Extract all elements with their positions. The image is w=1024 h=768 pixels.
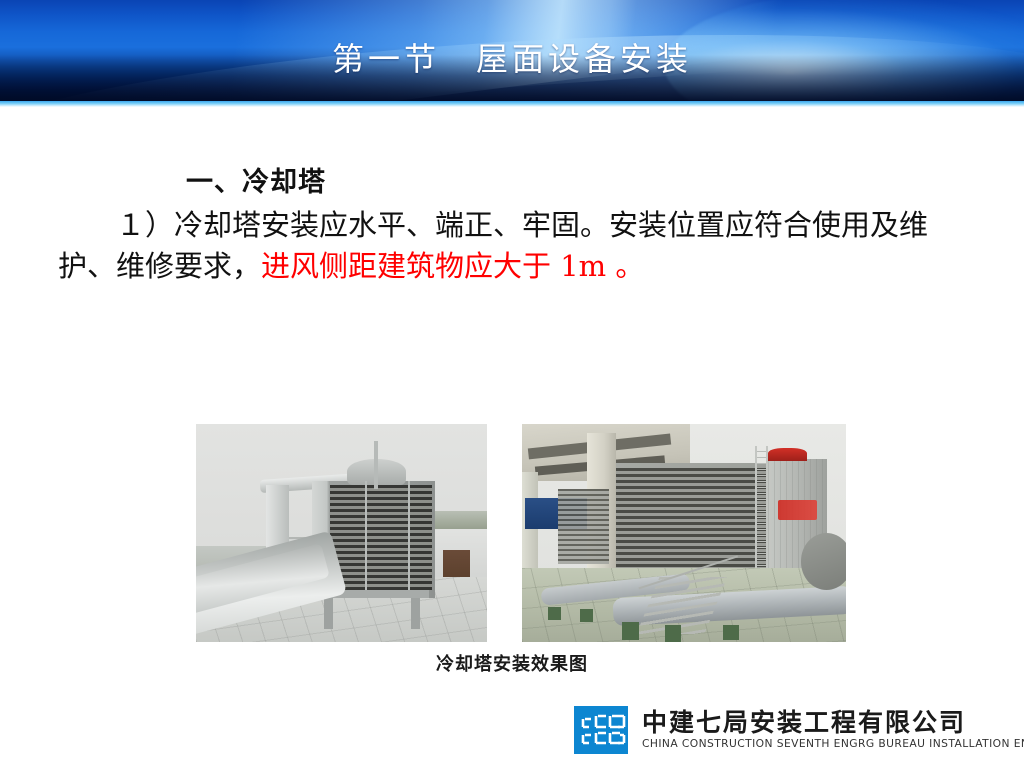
photo-red-brand-mark bbox=[778, 500, 817, 520]
cscec-logo-icon bbox=[574, 706, 628, 754]
photo-pipe-support-c bbox=[723, 625, 739, 640]
company-name-cn: 中建七局安装工程有限公司 bbox=[642, 710, 1024, 736]
photo-pipe-support-a bbox=[622, 622, 638, 639]
banner-accent-stripe bbox=[0, 101, 1024, 107]
photo-satellite-dish bbox=[801, 533, 846, 590]
company-name-block: 中建七局安装工程有限公司 CHINA CONSTRUCTION SEVENTH … bbox=[642, 710, 1024, 750]
photo-tower-leg-left bbox=[324, 598, 333, 629]
photo-pipe-support-far-b bbox=[580, 609, 593, 622]
body-paragraph-highlight: 进风侧距建筑物应大于 1m 。 bbox=[261, 249, 644, 283]
slide-header-banner: 第一节 屋面设备安装 bbox=[0, 0, 1024, 107]
photo-mast bbox=[374, 441, 378, 489]
photo-access-ladder bbox=[755, 446, 769, 581]
photo-red-fan-cowl bbox=[768, 448, 807, 461]
photo-cooling-tower-rooftop bbox=[196, 424, 487, 642]
presentation-slide: 第一节 屋面设备安装 一、冷却塔 １）冷却塔安装应水平、端正、牢固。安装位置应符… bbox=[0, 0, 1024, 768]
photo-tower-leg-right bbox=[411, 598, 420, 629]
photo-far-tower-louvers bbox=[558, 489, 610, 563]
figure-group bbox=[196, 424, 846, 642]
photo-pipe-support-far-a bbox=[548, 607, 561, 620]
photo-cooling-tower-row bbox=[522, 424, 846, 642]
body-paragraph: １）冷却塔安装应水平、端正、牢固。安装位置应符合使用及维护、维修要求，进风侧距建… bbox=[58, 205, 968, 287]
company-name-en: CHINA CONSTRUCTION SEVENTH ENGRG BUREAU … bbox=[642, 738, 1024, 750]
figure-caption: 冷却塔安装效果图 bbox=[0, 650, 1024, 676]
slide-body: 一、冷却塔 １）冷却塔安装应水平、端正、牢固。安装位置应符合使用及维护、维修要求… bbox=[58, 160, 968, 287]
photo-pipe-support-b bbox=[665, 625, 681, 642]
photo-tower-louvers bbox=[616, 468, 768, 573]
slide-title: 第一节 屋面设备安装 bbox=[0, 34, 1024, 80]
section-heading: 一、冷却塔 bbox=[186, 160, 968, 199]
photo-tower-rails bbox=[365, 481, 410, 594]
company-footer: 中建七局安装工程有限公司 CHINA CONSTRUCTION SEVENTH … bbox=[574, 706, 1024, 754]
